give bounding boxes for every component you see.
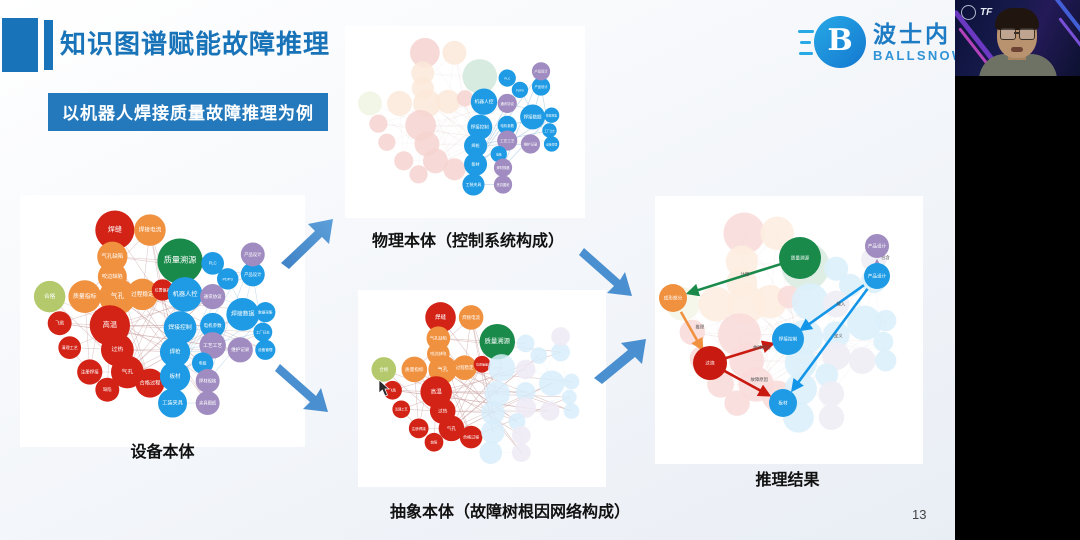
seal-icon [961, 5, 976, 20]
svg-text:焊接数据: 焊接数据 [231, 310, 255, 318]
svg-text:合格: 合格 [379, 366, 388, 373]
svg-text:通讯协议: 通讯协议 [500, 101, 514, 106]
svg-text:板材: 板材 [471, 161, 479, 167]
svg-text:焊枪: 焊枪 [471, 142, 479, 148]
knowledge-graph-abstract: 焊缝焊接电流气孔缺陷咬边缺陷质量溯源合格质量指标气孔过程稳定位置偏差飞溅高温清理… [358, 290, 606, 487]
svg-text:电机参数: 电机参数 [500, 123, 514, 128]
svg-text:产品设计: 产品设计 [535, 69, 549, 74]
svg-text:缺陷: 缺陷 [431, 440, 438, 445]
glasses-bridge-icon [1014, 32, 1019, 34]
svg-text:质量指标: 质量指标 [73, 292, 97, 300]
svg-text:计算: 计算 [741, 271, 750, 278]
caption-abstract: 抽象本体（故障树根因网络构成） [360, 503, 660, 523]
page-number: 13 [912, 507, 926, 522]
svg-text:工装夹具: 工装夹具 [466, 182, 482, 187]
svg-text:注册焊接: 注册焊接 [81, 368, 100, 375]
page-title: 知识图谱赋能故障推理 [60, 24, 330, 61]
svg-text:产品设计: 产品设计 [244, 271, 262, 278]
svg-text:设备管理: 设备管理 [258, 347, 273, 352]
svg-text:焊接电流: 焊接电流 [139, 225, 162, 233]
svg-text:产品设计: 产品设计 [244, 251, 262, 258]
svg-text:缺陷: 缺陷 [103, 386, 112, 393]
svg-text:焊材规格: 焊材规格 [496, 165, 510, 170]
svg-text:合格: 合格 [44, 292, 56, 300]
svg-text:工艺工艺: 工艺工艺 [203, 343, 222, 349]
caption-result: 推理结果 [680, 471, 895, 491]
svg-text:气孔缺陷: 气孔缺陷 [101, 252, 123, 260]
svg-text:过烧: 过烧 [705, 360, 715, 367]
svg-text:推理: 推理 [696, 324, 705, 331]
video-empty-area [955, 76, 1080, 540]
svg-text:PDPS: PDPS [516, 88, 524, 92]
svg-text:夹具图纸: 夹具图纸 [199, 399, 217, 406]
knowledge-graph-equipment: 焊缝焊接电流气孔缺陷咬边缺陷质量溯源PLCPDPS产品设计产品设计合格质量指标气… [20, 195, 305, 447]
graph-panel-abstract[interactable]: 焊缝焊接电流气孔缺陷咬边缺陷质量溯源合格质量指标气孔过程稳定位置偏差飞溅高温清理… [358, 290, 606, 487]
glasses-left-icon [1000, 28, 1016, 40]
svg-text:机器人控: 机器人控 [173, 290, 198, 298]
svg-text:焊接数据: 焊接数据 [524, 113, 542, 120]
svg-text:PDPS: PDPS [222, 277, 233, 281]
svg-text:焊缝: 焊缝 [108, 224, 122, 233]
svg-text:合格过程: 合格过程 [463, 433, 479, 439]
logo-name-cn: 波士内 [873, 23, 955, 46]
svg-text:质量指标: 质量指标 [405, 366, 424, 373]
logo-dash-icon [799, 52, 813, 55]
svg-text:气孔: 气孔 [122, 367, 134, 375]
glasses-right-icon [1019, 28, 1035, 40]
graph-panel-equipment[interactable]: 焊缝焊接电流气孔缺陷咬边缺陷质量溯源PLCPDPS产品设计产品设计合格质量指标气… [20, 195, 305, 447]
svg-text:焊缝: 焊缝 [435, 313, 446, 321]
svg-text:数据采集: 数据采集 [258, 310, 273, 315]
logo-name-en: BALLSNOW [873, 49, 955, 62]
svg-text:飞溅: 飞溅 [55, 320, 64, 327]
svg-text:过热: 过热 [438, 407, 448, 414]
svg-text:气孔缺陷: 气孔缺陷 [430, 335, 447, 342]
svg-text:焊接控制: 焊接控制 [168, 323, 192, 331]
logo-text-block: 波士内 BALLSNOW [873, 23, 955, 62]
svg-text:电极: 电极 [199, 361, 207, 366]
svg-text:工艺工艺: 工艺工艺 [500, 138, 515, 143]
svg-text:板材: 板材 [170, 372, 181, 380]
slide-subtitle: 以机器人焊接质量故障推理为例 [48, 93, 328, 131]
svg-text:气孔: 气孔 [438, 365, 448, 373]
logo-dash-icon [798, 30, 814, 33]
webcam-view: TF [955, 0, 1080, 76]
svg-text:合格过程: 合格过程 [140, 378, 161, 386]
connector-arrow-equipment-to-abstract [272, 352, 352, 422]
svg-text:质量溯源: 质量溯源 [164, 255, 197, 265]
svg-text:工厂日志: 工厂日志 [256, 329, 270, 334]
svg-text:焊接电流: 焊接电流 [462, 314, 480, 321]
svg-text:产品设计: 产品设计 [868, 243, 887, 250]
svg-text:维护记录: 维护记录 [524, 141, 538, 146]
svg-text:过程稳定: 过程稳定 [456, 364, 474, 371]
svg-text:高温: 高温 [431, 387, 443, 395]
slide-screenshot: 知识图谱赋能故障推理 以机器人焊接质量故障推理为例 B 波士内 BALLSNOW… [0, 0, 1080, 540]
svg-text:设备管理: 设备管理 [546, 142, 557, 146]
svg-text:成形部分: 成形部分 [664, 295, 683, 302]
svg-text:PLC: PLC [504, 76, 511, 80]
svg-text:清理工艺: 清理工艺 [395, 407, 408, 412]
svg-text:电极: 电极 [496, 152, 502, 157]
svg-text:气孔: 气孔 [447, 425, 457, 432]
caption-physical: 物理本体（控制系统构成） [368, 232, 568, 252]
svg-text:数据采集: 数据采集 [546, 114, 557, 118]
svg-text:质量溯源: 质量溯源 [485, 336, 511, 345]
logo-b-icon: B [814, 16, 866, 68]
connector-arrow-physical-to-result [578, 238, 658, 308]
svg-text:焊接控制: 焊接控制 [471, 123, 489, 130]
presentation-slide: 知识图谱赋能故障推理 以机器人焊接质量故障推理为例 B 波士内 BALLSNOW… [0, 0, 955, 540]
caption-equipment: 设备本体 [55, 443, 270, 463]
svg-text:焊材规格: 焊材规格 [199, 377, 217, 384]
svg-text:焊枪: 焊枪 [170, 347, 181, 355]
graph-panel-physical[interactable]: PLCPDPS产品设计产品设计机器人控通讯协议焊接数据数据采集焊接控制电机参数工… [345, 26, 585, 218]
connector-arrow-equipment-to-physical [275, 205, 355, 275]
svg-text:产品设计: 产品设计 [535, 84, 549, 89]
svg-text:电机参数: 电机参数 [204, 322, 223, 329]
svg-text:夹具图纸: 夹具图纸 [496, 182, 510, 187]
svg-text:故障原因: 故障原因 [751, 376, 769, 383]
knowledge-graph-result: 计算推理故障原因故障原因输入定义包含质量溯源成形部分过烧焊接控制板材产品设计产品… [655, 196, 923, 464]
svg-text:工装夹具: 工装夹具 [162, 398, 183, 406]
video-badge-label: TF [980, 7, 992, 18]
svg-text:高温: 高温 [103, 320, 118, 329]
logo-letter: B [827, 26, 852, 56]
svg-text:焊接控制: 焊接控制 [779, 336, 798, 343]
person-mouth [1011, 47, 1023, 52]
brand-logo: B 波士内 BALLSNOW [798, 16, 955, 68]
title-accent-bar [44, 20, 53, 70]
video-badge: TF [961, 5, 992, 20]
svg-text:过程稳定: 过程稳定 [131, 290, 154, 298]
svg-text:产品设计: 产品设计 [868, 273, 887, 280]
svg-text:注册焊接: 注册焊接 [412, 426, 427, 431]
svg-text:故障原因: 故障原因 [753, 344, 771, 351]
svg-text:位置偏差: 位置偏差 [476, 362, 488, 367]
svg-text:气孔: 气孔 [111, 291, 125, 300]
svg-text:板材: 板材 [778, 400, 788, 407]
svg-text:输入: 输入 [837, 301, 846, 308]
svg-text:通讯协议: 通讯协议 [204, 293, 223, 300]
logo-mark-wrap: B [798, 16, 864, 68]
svg-text:清理工艺: 清理工艺 [62, 344, 78, 350]
person-hair [995, 8, 1039, 30]
svg-text:机器人控: 机器人控 [475, 98, 494, 105]
graph-panel-result[interactable]: 计算推理故障原因故障原因输入定义包含质量溯源成形部分过烧焊接控制板材产品设计产品… [655, 196, 923, 464]
logo-dash-icon [800, 41, 811, 44]
svg-text:过热: 过热 [111, 345, 123, 353]
knowledge-graph-physical: PLCPDPS产品设计产品设计机器人控通讯协议焊接数据数据采集焊接控制电机参数工… [345, 26, 585, 218]
title-accent-square [2, 18, 38, 72]
mouse-cursor [379, 380, 393, 398]
svg-text:工厂日志: 工厂日志 [544, 129, 555, 133]
svg-text:PLC: PLC [209, 261, 217, 266]
svg-text:维护记录: 维护记录 [231, 346, 250, 353]
connector-arrow-abstract-to-result [590, 330, 670, 390]
video-participant-tile[interactable]: TF [955, 0, 1080, 540]
svg-text:定义: 定义 [834, 333, 843, 340]
svg-text:质量溯源: 质量溯源 [791, 255, 810, 262]
